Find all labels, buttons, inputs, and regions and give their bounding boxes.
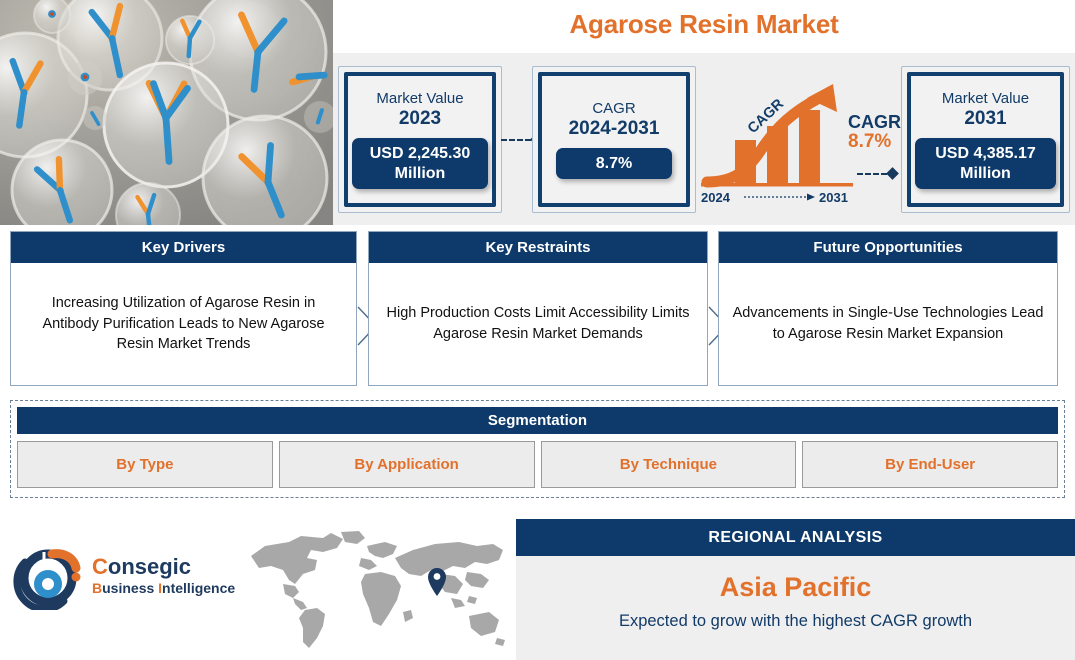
metric-value-pill: USD 4,385.17 Million — [915, 138, 1056, 188]
consegic-logo[interactable]: Consegic Business Intelligence — [12, 544, 235, 610]
regional-analysis-subtitle: Expected to grow with the highest CAGR g… — [516, 612, 1075, 631]
logo-mark-icon — [12, 544, 84, 610]
metric-value-pill: 8.7% — [556, 148, 672, 179]
panel-key-restraints: Key Restraints High Production Costs Lim… — [368, 231, 708, 386]
drivers-restraints-opportunities-row: Key Drivers Increasing Utilization of Ag… — [0, 227, 1075, 389]
cagr-legend: CAGR 8.7% — [848, 113, 901, 153]
segmentation-cell-by-end-user[interactable]: By End-User — [802, 441, 1058, 488]
panel-key-drivers: Key Drivers Increasing Utilization of Ag… — [10, 231, 357, 386]
logo-tagline: Business Intelligence — [92, 578, 235, 599]
cagr-legend-value: 8.7% — [848, 132, 901, 153]
segmentation-cell-by-application[interactable]: By Application — [279, 441, 535, 488]
map-pin-icon — [428, 568, 446, 596]
connector-dashed-2 — [857, 169, 897, 178]
diamond-marker-icon — [886, 167, 899, 180]
regional-analysis-region: Asia Pacific — [516, 572, 1075, 603]
hero-image-agarose-beads — [0, 0, 333, 225]
top-section: Agarose Resin Market Market Value 2023 U… — [0, 0, 1075, 225]
metric-year: 2031 — [964, 108, 1006, 130]
segmentation-cell-by-technique[interactable]: By Technique — [541, 441, 797, 488]
panel-body: High Production Costs Limit Accessibilit… — [369, 263, 707, 385]
panel-future-opportunities: Future Opportunities Advancements in Sin… — [718, 231, 1058, 386]
panel-body: Increasing Utilization of Agarose Resin … — [11, 263, 356, 385]
footer-section: Consegic Business Intelligence — [0, 508, 1075, 660]
cagr-growth-chart: CAGR 2024 2031 — [701, 78, 861, 203]
segmentation-cells: By Type By Application By Technique By E… — [17, 441, 1058, 488]
metric-card-market-value-2031: Market Value 2031 USD 4,385.17 Million — [901, 66, 1070, 213]
dashed-line — [857, 173, 887, 175]
segmentation-section: Segmentation By Type By Application By T… — [10, 400, 1065, 498]
panel-body: Advancements in Single-Use Technologies … — [719, 263, 1057, 385]
segmentation-cell-by-type[interactable]: By Type — [17, 441, 273, 488]
metric-label: Market Value — [942, 90, 1029, 107]
metric-card-cagr: CAGR 2024-2031 8.7% — [532, 66, 696, 213]
metric-card-market-value-2023: Market Value 2023 USD 2,245.30 Million — [338, 66, 502, 213]
metric-value-pill: USD 2,245.30 Million — [352, 138, 488, 188]
metrics-band: Market Value 2023 USD 2,245.30 Million C… — [333, 53, 1075, 225]
top-right-section: Agarose Resin Market Market Value 2023 U… — [333, 0, 1075, 225]
infographic-page: Agarose Resin Market Market Value 2023 U… — [0, 0, 1075, 660]
metric-label: Market Value — [376, 90, 463, 107]
dashed-line — [501, 139, 531, 141]
axis-label-start: 2024 — [701, 190, 731, 203]
world-map — [245, 530, 510, 650]
metric-label: CAGR — [592, 100, 635, 117]
metric-year: 2023 — [399, 108, 441, 130]
regional-analysis-panel: REGIONAL ANALYSIS Asia Pacific Expected … — [516, 519, 1075, 660]
panel-heading: Key Restraints — [369, 232, 707, 263]
panel-heading: Future Opportunities — [719, 232, 1057, 263]
logo-name: Consegic — [92, 556, 235, 578]
metric-year: 2024-2031 — [569, 118, 660, 140]
cagr-legend-title: CAGR — [848, 113, 901, 132]
panel-heading: Key Drivers — [11, 232, 356, 263]
regional-analysis-heading: REGIONAL ANALYSIS — [516, 519, 1075, 556]
axis-label-end: 2031 — [819, 190, 848, 203]
segmentation-heading: Segmentation — [17, 407, 1058, 434]
page-title: Agarose Resin Market — [333, 9, 1075, 40]
